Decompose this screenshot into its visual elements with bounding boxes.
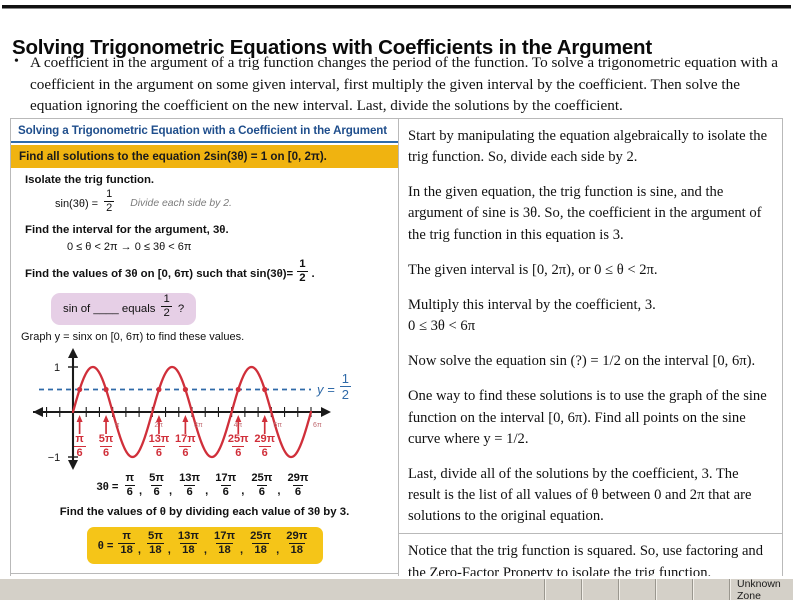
fraction-denominator: 18 — [289, 543, 305, 556]
prompt-pill-question: ? — [178, 303, 184, 315]
fraction-numerator: 13π — [177, 473, 202, 485]
card-divider — [11, 573, 398, 574]
explanation-paragraph: Now solve the equation sin (?) = 1/2 on … — [408, 351, 772, 372]
fraction-denominator: 6 — [293, 485, 303, 498]
slide-page: Solving Trigonometric Equations with Coe… — [0, 0, 793, 600]
fraction-numerator: 1 — [161, 294, 171, 306]
explanation-column: Start by manipulating the equation algeb… — [399, 119, 782, 576]
fraction: 13π18 — [176, 531, 201, 556]
step-find-values-text: Find the values of 3θ on [0, 6π) such th… — [25, 268, 293, 280]
fraction-numerator: 17π — [172, 434, 199, 447]
fraction: 13π6 — [177, 473, 202, 498]
fraction: 5π18 — [146, 531, 165, 556]
fraction-numerator: 25π — [248, 531, 273, 543]
graph-solution-label: 17π6 — [169, 434, 201, 460]
intersection-marker — [103, 387, 108, 392]
fraction-denominator: 6 — [221, 485, 231, 498]
card-header: Solving a Trigonometric Equation with a … — [11, 119, 398, 143]
explanation-paragraph: Start by manipulating the equation algeb… — [408, 126, 772, 168]
fraction-denominator: 6 — [184, 485, 194, 498]
fraction-numerator: π — [72, 434, 86, 447]
fraction-denominator: 18 — [216, 543, 232, 556]
fraction-numerator: 5π — [147, 473, 166, 485]
graph-caption: Graph y = sinx on [0, 6π) to find these … — [11, 325, 398, 343]
fraction-numerator: 5π — [96, 434, 117, 447]
status-bar-zone-label: Unknown Zone — [737, 578, 793, 600]
fraction-numerator: 13π — [176, 531, 201, 543]
solution-3theta-values: π6,5π6,13π6,17π6,25π6,29π6 — [121, 475, 312, 500]
equation-sin-half: sin(3θ) = 1 2 Divide each side by 2. — [11, 188, 398, 218]
content-table: Solving a Trigonometric Equation with a … — [10, 118, 783, 576]
fraction-denominator: 18 — [147, 543, 163, 556]
explanation-paragraph: Last, divide all of the solutions by the… — [408, 464, 772, 527]
fraction-separator: , — [138, 544, 141, 556]
fraction-denominator: 6 — [179, 446, 191, 460]
fraction-separator: , — [169, 485, 172, 497]
fraction: 17π18 — [212, 531, 237, 556]
solution-3theta-label: 3θ = — [97, 481, 119, 493]
status-bar-segment — [693, 579, 730, 600]
fraction-one-half: 1 2 — [104, 189, 114, 214]
step-divide-label: Find the values of θ by dividing each va… — [11, 500, 398, 520]
fraction-denominator: 2 — [161, 306, 171, 319]
fraction-numerator: 29π — [285, 473, 310, 485]
fraction: 29π18 — [284, 531, 309, 556]
bullet-marker: • — [14, 52, 30, 117]
step-find-values-period: . — [312, 268, 315, 280]
graph-solution-labels: π65π613π617π625π629π6 — [11, 420, 399, 466]
fraction-denominator: 18 — [118, 543, 134, 556]
explanation-paragraph: One way to find these solutions is to us… — [408, 386, 772, 449]
status-bar-segment — [656, 579, 693, 600]
fraction-denominator: 2 — [104, 201, 114, 214]
fraction: π6 — [123, 473, 136, 498]
status-bar-zone[interactable]: Unknown Zone — [730, 579, 793, 600]
fraction: 25π18 — [248, 531, 273, 556]
fraction-numerator: 29π — [251, 434, 278, 447]
fraction-numerator: 1 — [104, 189, 114, 201]
fraction-separator: , — [205, 485, 208, 497]
fraction-denominator: 2 — [340, 386, 351, 401]
fraction-one-half-2: 1 2 — [297, 259, 307, 285]
fraction-separator: , — [204, 544, 207, 556]
fraction-denominator: 2 — [297, 271, 307, 284]
fraction-numerator: π — [120, 531, 133, 543]
explanation-paragraph: Multiply this interval by the coefficien… — [408, 295, 772, 337]
status-bar-message-panel — [0, 579, 545, 600]
intersection-marker — [77, 387, 82, 392]
explanation-paragraph: In the given equation, the trig function… — [408, 182, 772, 245]
fraction-numerator: π — [123, 473, 136, 485]
fraction-numerator: 25π — [249, 473, 274, 485]
fraction-numerator: 5π — [146, 531, 165, 543]
interval-equation: 0 ≤ θ < 2π → 0 ≤ 3θ < 6π — [11, 238, 398, 255]
fraction-numerator: 1 — [340, 372, 351, 386]
status-bar-segment — [545, 579, 582, 600]
fraction-denominator: 6 — [74, 446, 86, 460]
intersection-marker — [156, 387, 161, 392]
sine-graph: 1 −1 π2π3π4π5π6π y = 1 2 — [11, 344, 399, 472]
fraction-denominator: 6 — [153, 446, 165, 460]
problem-1-banner: Find all solutions to the equation 2sin(… — [11, 145, 398, 168]
fraction-denominator: 18 — [180, 543, 196, 556]
fraction: 25π6 — [249, 473, 274, 498]
step-isolate-label: Isolate the trig function. — [11, 168, 398, 188]
fraction-numerator: 29π — [284, 531, 309, 543]
prompt-pill: sin of ____ equals 1 2 ? — [51, 293, 196, 325]
solution-theta-values: π18,5π18,13π18,17π18,25π18,29π18 — [116, 533, 311, 558]
half-line-label: y = 1 2 — [317, 375, 353, 404]
fraction: 5π6 — [147, 473, 166, 498]
fraction-numerator: 17π — [212, 531, 237, 543]
intersection-marker — [236, 387, 241, 392]
explanation-cell-2: Notice that the trig function is squared… — [399, 533, 782, 576]
fraction-one-half-3: 1 2 — [161, 294, 171, 320]
intersection-marker — [183, 387, 188, 392]
fraction-denominator: 6 — [100, 446, 112, 460]
fraction: π18 — [118, 531, 134, 556]
fraction-denominator: 6 — [257, 485, 267, 498]
fraction-one-half-graph: 1 2 — [340, 372, 351, 401]
top-rule — [2, 5, 791, 9]
status-bar-segment — [619, 579, 656, 600]
intersection-marker — [262, 387, 267, 392]
fraction-separator: , — [240, 544, 243, 556]
fraction-separator: , — [139, 485, 142, 497]
intro-bullet: • A coefficient in the argument of a tri… — [14, 52, 782, 117]
fraction-numerator: 13π — [146, 434, 173, 447]
explanation-paragraph: Notice that the trig function is squared… — [408, 541, 772, 576]
fraction-denominator: 6 — [151, 485, 161, 498]
intro-text: A coefficient in the argument of a trig … — [30, 52, 782, 117]
y-axis-top-label: 1 — [54, 362, 60, 374]
explanation-paragraph: The given interval is [0, 2π), or 0 ≤ θ … — [408, 260, 772, 281]
graph-solution-label: 5π6 — [90, 434, 122, 460]
equation-side-note: Divide each side by 2. — [130, 198, 232, 209]
graph-solution-label: 29π6 — [249, 434, 281, 460]
fraction-numerator: 25π — [225, 434, 252, 447]
fraction-separator: , — [241, 485, 244, 497]
equation-lhs: sin(3θ) = — [55, 198, 98, 210]
fraction-denominator: 18 — [252, 543, 268, 556]
fraction-denominator: 6 — [125, 485, 135, 498]
fraction-separator: , — [276, 544, 279, 556]
fraction-numerator: 17π — [213, 473, 238, 485]
fraction-numerator: 1 — [297, 259, 307, 271]
explanation-cell-1: Start by manipulating the equation algeb… — [399, 119, 782, 527]
fraction-separator: , — [277, 485, 280, 497]
worked-example-card: Solving a Trigonometric Equation with a … — [11, 119, 399, 576]
fraction-separator: , — [168, 544, 171, 556]
status-bar: Unknown Zone — [0, 578, 793, 600]
step-find-values-label: Find the values of 3θ on [0, 6π) such th… — [11, 255, 398, 289]
fraction: 29π6 — [285, 473, 310, 498]
solution-theta-label: θ = — [98, 540, 114, 552]
half-line-label-lhs: y = — [317, 382, 335, 397]
fraction: 17π6 — [213, 473, 238, 498]
fraction-denominator: 6 — [232, 446, 244, 460]
fraction-denominator: 6 — [259, 446, 271, 460]
final-answer-box: θ = π18,5π18,13π18,17π18,25π18,29π18 — [87, 527, 323, 564]
solution-3theta-line: 3θ = π6,5π6,13π6,17π6,25π6,29π6 — [11, 472, 398, 500]
prompt-pill-text: sin of ____ equals — [63, 303, 155, 315]
status-bar-segment — [582, 579, 619, 600]
step-interval-label: Find the interval for the argument, 3θ. — [11, 218, 398, 238]
